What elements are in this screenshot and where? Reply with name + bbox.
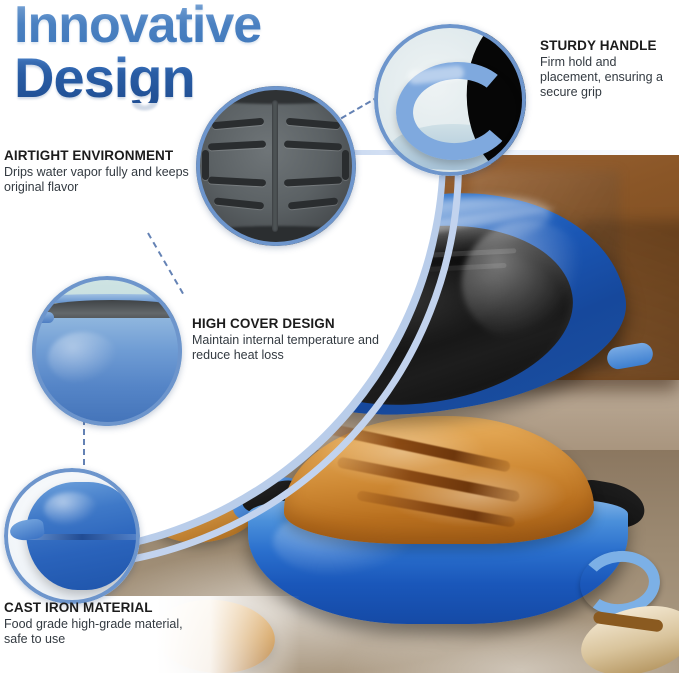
page-title: Innovative Design — [14, 2, 344, 103]
lid-rib — [214, 197, 264, 209]
lid-rib — [284, 140, 342, 150]
callout-body: Maintain internal temperature and reduce… — [192, 333, 392, 363]
title-line-2: Design — [14, 52, 344, 104]
callout-airtight-environment: AIRTIGHT ENVIRONMENT Drips water vapor f… — [4, 148, 204, 195]
callout-high-cover-design: HIGH COVER DESIGN Maintain internal temp… — [192, 316, 392, 363]
lid-rib — [288, 197, 338, 209]
lid-rib — [208, 140, 266, 150]
lid-rib-vertical — [342, 150, 349, 180]
callout-heading: HIGH COVER DESIGN — [192, 316, 392, 331]
lid-rib — [284, 176, 342, 186]
callout-heading: AIRTIGHT ENVIRONMENT — [4, 148, 204, 163]
callout-heading: CAST IRON MATERIAL — [4, 600, 204, 615]
callout-sturdy-handle: STURDY HANDLE Firm hold and placement, e… — [540, 38, 679, 100]
lid-rib — [212, 118, 264, 130]
callout-heading: STURDY HANDLE — [540, 38, 679, 53]
callout-body: Drips water vapor fully and keeps origin… — [4, 165, 204, 195]
pot-profile-gloss — [48, 332, 118, 384]
title-line-1: Innovative — [14, 2, 344, 50]
infographic-canvas: Innovative Design STURDY HANDLE Firm hol… — [0, 0, 679, 673]
lid-rib — [286, 118, 340, 130]
inset-pot-side-profile — [32, 276, 182, 426]
inset-handle-closeup — [374, 24, 526, 176]
pot-profile-ear — [32, 312, 54, 323]
inset-closed-dutch-oven — [4, 468, 140, 604]
lid-center-divider — [272, 100, 278, 232]
closed-pot-highlight — [44, 492, 98, 526]
callout-body: Food grade high-grade material, safe to … — [4, 617, 204, 647]
callout-cast-iron-material: CAST IRON MATERIAL Food grade high-grade… — [4, 600, 204, 647]
lid-rib — [208, 176, 266, 186]
callout-body: Firm hold and placement, ensuring a secu… — [540, 55, 679, 100]
inset-ribbed-lid-underside — [196, 86, 356, 246]
